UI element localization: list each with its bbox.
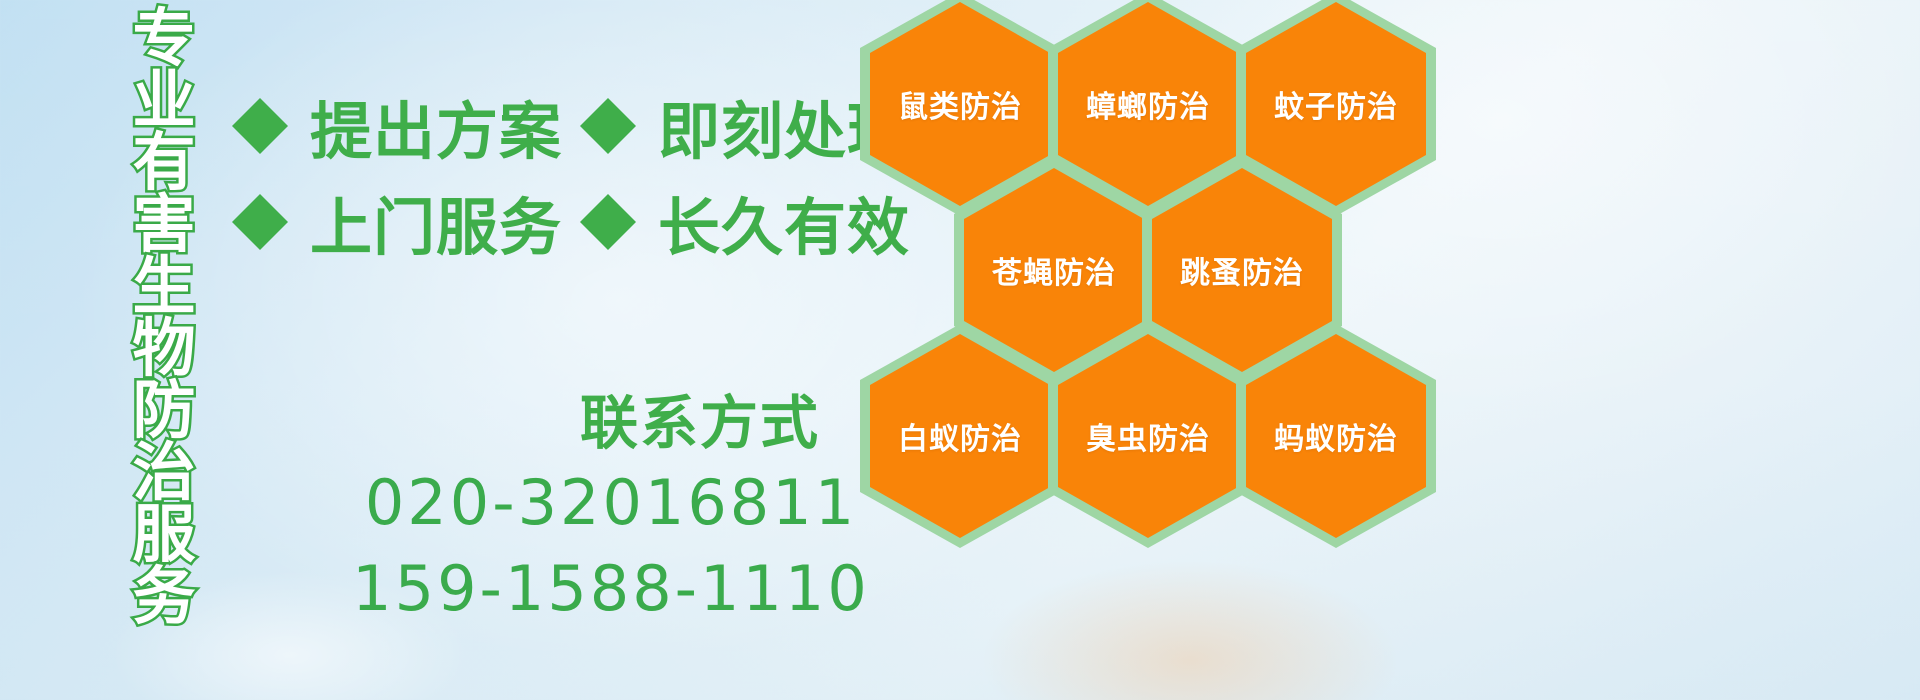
diamond-bullet-icon (232, 166, 288, 222)
vertical-title: 专 业 有 害 生 物 防 治 服 务 (110, 8, 218, 568)
vertical-title-char-9: 务 (133, 566, 196, 628)
feature-label-0: 提出方案 (310, 81, 562, 171)
service-label-7: 蚂蚁防治 (1274, 414, 1398, 458)
feature-row-2: 上门服务 长久有效 (232, 174, 892, 270)
diamond-bullet-icon (580, 166, 636, 222)
hex-inner: 蚂蚁防治 (1246, 334, 1426, 538)
phone-landline[interactable]: 020-32016811 (322, 460, 900, 546)
feature-list: 提出方案 即刻处理 上门服务 长久有效 (232, 78, 892, 270)
hex-inner: 白蚁防治 (870, 334, 1050, 538)
vertical-title-char-4: 生 (133, 256, 196, 318)
service-label-2: 蚊子防治 (1274, 82, 1398, 126)
phone-mobile[interactable]: 159-1588-1110 (322, 546, 900, 632)
vertical-title-char-3: 害 (133, 194, 196, 256)
vertical-title-char-5: 物 (133, 318, 196, 380)
background-glow-right (980, 560, 1400, 700)
feature-row-1: 提出方案 即刻处理 (232, 78, 892, 174)
feature-label-2: 上门服务 (310, 177, 562, 267)
vertical-title-char-8: 服 (133, 504, 196, 566)
service-hex-grid: 鼠类防治 蟑螂防治 蚊子防治 苍蝇防治 跳蚤防治 白蚁防治 臭虫防治 蚂蚁防治 (852, 0, 1452, 548)
vertical-title-char-7: 治 (133, 442, 196, 504)
vertical-title-char-0: 专 (133, 8, 196, 70)
contact-title: 联系方式 (500, 386, 900, 460)
vertical-title-char-1: 业 (133, 70, 196, 132)
service-label-1: 蟑螂防治 (1086, 82, 1210, 126)
service-label-4: 跳蚤防治 (1180, 248, 1304, 292)
hex-inner: 臭虫防治 (1058, 334, 1238, 538)
service-label-6: 臭虫防治 (1086, 414, 1210, 458)
vertical-title-char-6: 防 (133, 380, 196, 442)
contact-block: 联系方式 020-32016811 159-1588-1110 (300, 386, 900, 632)
service-label-5: 白蚁防治 (898, 414, 1022, 458)
diamond-bullet-icon (232, 70, 288, 126)
service-label-3: 苍蝇防治 (992, 248, 1116, 292)
diamond-bullet-icon (580, 70, 636, 126)
service-label-0: 鼠类防治 (898, 82, 1022, 126)
vertical-title-char-2: 有 (133, 132, 196, 194)
